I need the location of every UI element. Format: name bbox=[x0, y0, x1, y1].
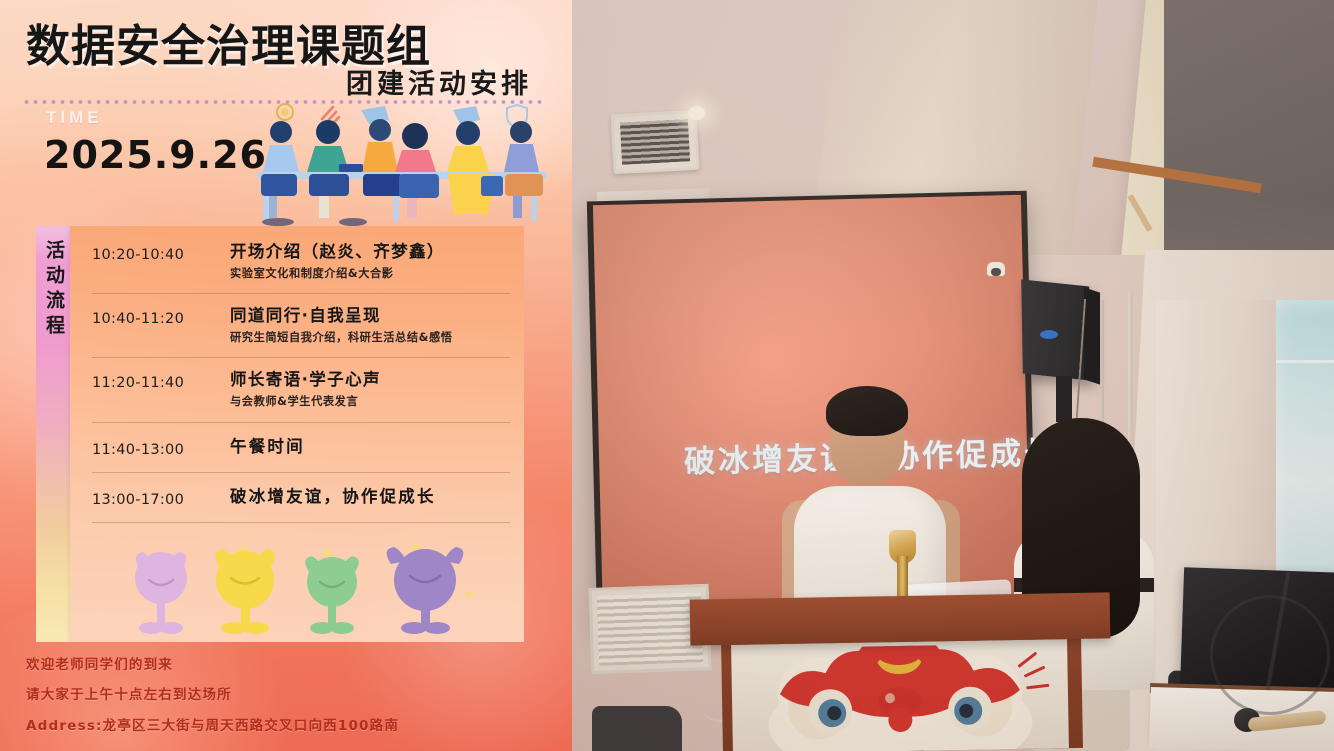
event-poster: 数据安全治理课题组 团建活动安排 TIME 2025.9.26 bbox=[0, 0, 572, 751]
schedule-row-time: 11:20-11:40 bbox=[92, 370, 230, 391]
time-label: TIME bbox=[46, 108, 103, 128]
event-date: 2025.9.26 bbox=[44, 133, 267, 177]
buddy-characters-illustration bbox=[70, 532, 524, 636]
schedule-row: 11:20-11:40 师长寄语·学子心声 与会教师&学生代表发言 bbox=[92, 358, 510, 422]
schedule-rows: 10:20-10:40 开场介绍（赵炎、齐梦鑫） 实验室文化和制度介绍&大合影 … bbox=[70, 226, 524, 642]
schedule-tab-label: 活动流程 bbox=[43, 240, 63, 340]
ceiling-camera-icon bbox=[987, 262, 1005, 276]
schedule-row-title: 午餐时间 bbox=[230, 437, 510, 458]
speaker-logo-icon bbox=[1040, 330, 1058, 339]
split-image-canvas: 数据安全治理课题组 团建活动安排 TIME 2025.9.26 bbox=[0, 0, 1334, 751]
schedule-row-content: 师长寄语·学子心声 与会教师&学生代表发言 bbox=[230, 370, 510, 409]
schedule-card: 活动流程 10:20-10:40 开场介绍（赵炎、齐梦鑫） 实验室文化和制度介绍… bbox=[36, 226, 524, 642]
footer-line-arrival: 请大家于上午十点左右到达场所 bbox=[26, 689, 526, 703]
ceiling-vent-icon bbox=[610, 110, 699, 174]
schedule-row: 10:20-10:40 开场介绍（赵炎、齐梦鑫） 实验室文化和制度介绍&大合影 bbox=[92, 230, 510, 294]
schedule-row-title: 破冰增友谊，协作促成长 bbox=[230, 487, 510, 508]
poster-footer-notes: 欢迎老师同学们的到来 请大家于上午十点左右到达场所 Address:龙亭区三大街… bbox=[26, 659, 526, 738]
schedule-row-title: 师长寄语·学子心声 bbox=[230, 370, 510, 391]
dark-chair bbox=[592, 706, 682, 751]
schedule-row-content: 破冰增友谊，协作促成长 bbox=[230, 487, 510, 508]
schedule-row-time: 10:20-10:40 bbox=[92, 242, 230, 263]
schedule-row-subtitle: 研究生简短自我介绍，科研生活总结&感悟 bbox=[230, 331, 510, 346]
male-presenter-hair bbox=[826, 386, 908, 436]
schedule-row-subtitle: 与会教师&学生代表发言 bbox=[230, 395, 510, 410]
speaker-mount-bracket bbox=[1056, 376, 1072, 422]
schedule-row-content: 开场介绍（赵炎、齐梦鑫） 实验室文化和制度介绍&大合影 bbox=[230, 242, 510, 281]
schedule-row-time: 13:00-17:00 bbox=[92, 487, 230, 508]
schedule-row-time: 11:40-13:00 bbox=[92, 437, 230, 458]
poster-subtitle: 团建活动安排 bbox=[346, 62, 532, 101]
schedule-tab: 活动流程 bbox=[36, 226, 70, 642]
schedule-row-content: 同道同行·自我呈现 研究生简短自我介绍，科研生活总结&感悟 bbox=[230, 306, 510, 345]
bicycle-wheel bbox=[1210, 595, 1330, 715]
lion-dance-decoration bbox=[739, 643, 1061, 751]
schedule-row: 13:00-17:00 破冰增友谊，协作促成长 bbox=[92, 473, 510, 523]
podium-top bbox=[690, 592, 1111, 645]
schedule-row-title: 开场介绍（赵炎、齐梦鑫） bbox=[230, 242, 510, 263]
schedule-row-content: 午餐时间 bbox=[230, 437, 510, 458]
event-photograph: 破冰增友谊，协作促成长 数据安 bbox=[572, 0, 1334, 751]
schedule-row: 11:40-13:00 午餐时间 bbox=[92, 423, 510, 473]
window-mullion bbox=[1272, 360, 1334, 363]
footer-line-welcome: 欢迎老师同学们的到来 bbox=[26, 659, 526, 673]
schedule-row-time: 10:40-11:20 bbox=[92, 306, 230, 327]
downlight-icon bbox=[688, 106, 705, 120]
schedule-row-subtitle: 实验室文化和制度介绍&大合影 bbox=[230, 267, 510, 282]
schedule-row: 10:40-11:20 同道同行·自我呈现 研究生简短自我介绍，科研生活总结&感… bbox=[92, 294, 510, 358]
footer-line-address: Address:龙亭区三大街与周天西路交叉口向西100路南 bbox=[26, 720, 526, 734]
schedule-row-title: 同道同行·自我呈现 bbox=[230, 306, 510, 327]
team-meeting-illustration bbox=[243, 100, 561, 228]
